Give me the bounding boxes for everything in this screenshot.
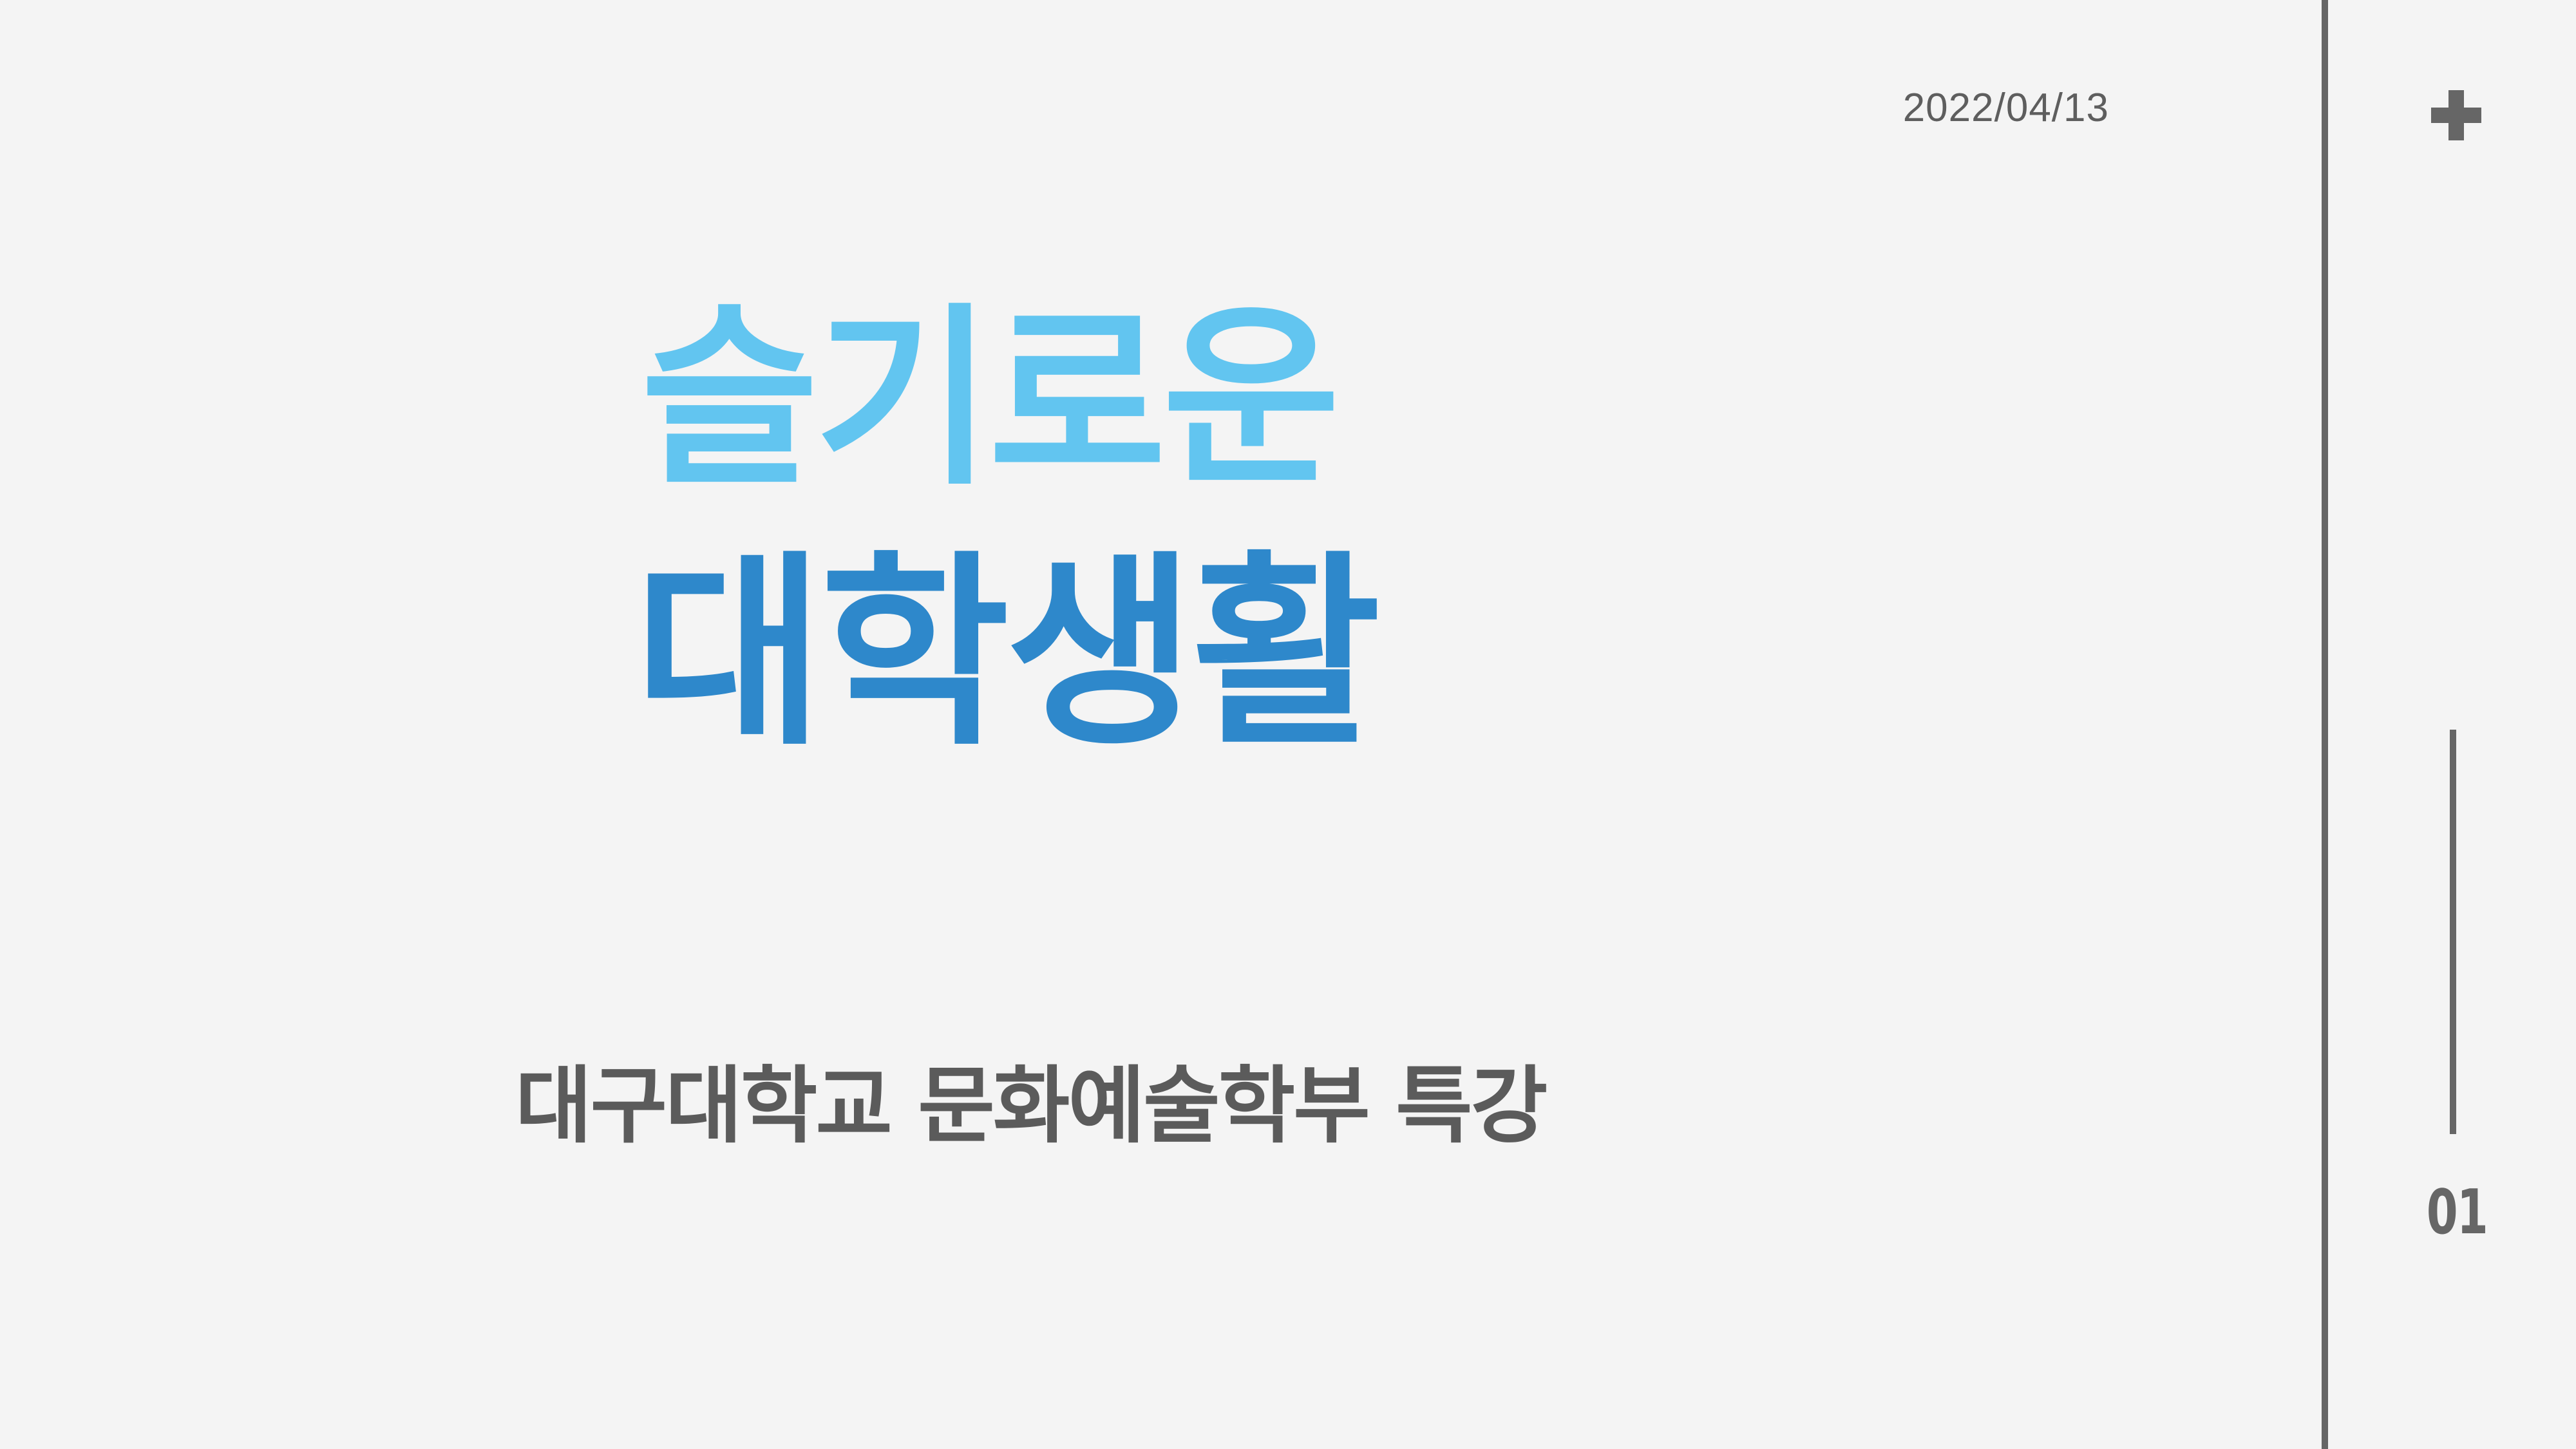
presentation-slide: 2022/04/13 슬기로운 대학생활 대구대학교 문화예술학부 특강 01 <box>0 0 2576 1449</box>
slide-subtitle: 대구대학교 문화예술학부 특강 <box>515 1038 1546 1159</box>
vertical-divider <box>2322 0 2328 1449</box>
slide-number: 01 <box>2404 1177 2510 1248</box>
slide-date: 2022/04/13 <box>1546 85 2109 131</box>
title-line-primary: 슬기로운 <box>641 303 1336 496</box>
vertical-rule-icon <box>2450 730 2456 1134</box>
title-line-secondary: 대학생활 <box>634 551 1378 757</box>
right-rail: 01 <box>2328 0 2576 1449</box>
plus-icon <box>2431 90 2481 140</box>
